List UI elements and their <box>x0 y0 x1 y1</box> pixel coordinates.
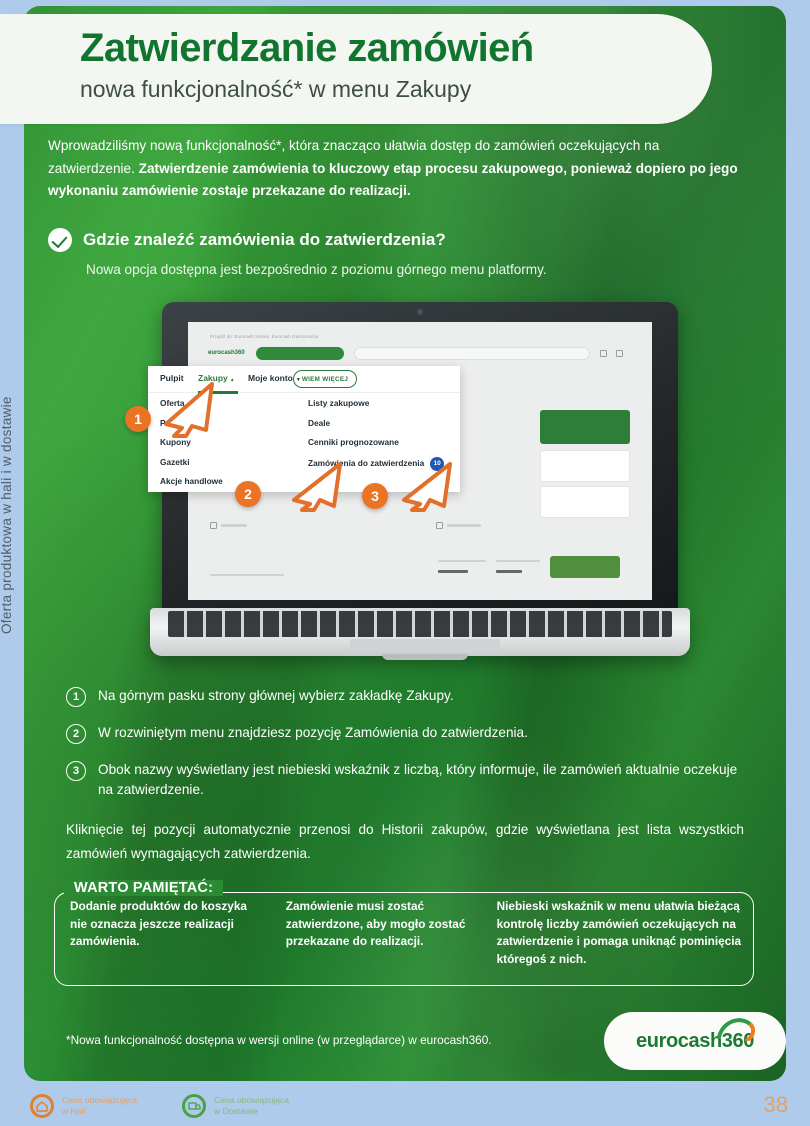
intro-paragraph: Wprowadziliśmy nową funkcjonalność*, któ… <box>48 135 748 203</box>
page-number: 38 <box>764 1092 788 1118</box>
closing-paragraph: Kliknięcie tej pozycji automatycznie prz… <box>66 818 744 866</box>
marker-2: 2 <box>235 481 261 507</box>
browser-footer-note <box>210 574 284 576</box>
browser-total-label-2 <box>496 560 540 562</box>
browser-total-value-1 <box>438 570 468 573</box>
menu-item-deale[interactable]: Deale <box>308 418 444 428</box>
step-3-text: Obok nazwy wyświetlany jest niebieski ws… <box>98 760 756 800</box>
link-icon[interactable] <box>600 350 607 357</box>
step-2: 2 W rozwiniętym menu znajdziesz pozycję … <box>66 723 756 744</box>
chevron-up-icon: ▲ <box>230 377 235 383</box>
tab-moje-konto-label: Moje konto <box>248 373 293 383</box>
bottom-bar: Cena obowiązująca w Hali Cena obowiązują… <box>0 1086 810 1126</box>
step-2-number: 2 <box>66 724 86 744</box>
eurocash360-logo: eurocash360 <box>604 1012 786 1070</box>
step-2-text: W rozwiniętym menu znajdziesz pozycję Za… <box>98 723 528 743</box>
legend-hall-line2: w Hali <box>62 1106 137 1117</box>
menu-item-cenniki[interactable]: Cenniki prognozowane <box>308 437 444 447</box>
legend-hall-line1: Cena obowiązująca <box>62 1095 137 1106</box>
browser-sidebar-import[interactable] <box>540 486 630 518</box>
page-subtitle: nowa funkcjonalność* w menu Zakupy <box>80 76 471 103</box>
step-1-number: 1 <box>66 687 86 707</box>
page-title: Zatwierdzanie zamówień <box>80 26 534 71</box>
browser-sidebar-rozpocznij[interactable] <box>540 410 630 444</box>
remember-column-1: Dodanie produktów do koszyka nie oznacza… <box>70 898 264 968</box>
steps-list: 1 Na górnym pasku strony głównej wybierz… <box>66 686 756 816</box>
intro-text-bold: Zatwierdzenie zamówienia to kluczowy eta… <box>48 161 738 199</box>
coupon-icon <box>210 522 217 529</box>
side-label: Oferta produktowa w hali i w dostawie <box>0 340 14 640</box>
header-pill: Zatwierdzanie zamówień nowa funkcjonalno… <box>0 14 712 124</box>
browser-breadcrumb: Przejdź do: Eurocash Serwis, Eurocash Ga… <box>210 334 318 339</box>
legend-delivery-line1: Cena obowiązująca <box>214 1095 289 1106</box>
laptop-notch <box>382 654 468 660</box>
step-1-text: Na górnym pasku strony głównej wybierz z… <box>98 686 454 706</box>
browser-footer-link-kupony[interactable] <box>221 524 247 527</box>
legend-item-delivery: Cena obowiązująca w Dostawie <box>182 1094 289 1118</box>
footnote: *Nowa funkcjonalność dostępna w wersji o… <box>66 1033 492 1047</box>
webcam-icon <box>417 309 423 315</box>
step-1: 1 Na górnym pasku strony głównej wybierz… <box>66 686 756 707</box>
logo-swoosh-icon <box>717 1015 757 1041</box>
remember-columns: Dodanie produktów do koszyka nie oznacza… <box>70 898 750 968</box>
cursor-arrow-1 <box>156 378 226 440</box>
question-row: Gdzie znaleźć zamówienia do zatwierdzeni… <box>48 228 446 252</box>
question-title: Gdzie znaleźć zamówienia do zatwierdzeni… <box>83 230 446 250</box>
step-3: 3 Obok nazwy wyświetlany jest niebieski … <box>66 760 756 800</box>
mail-icon[interactable] <box>616 350 623 357</box>
step-3-number: 3 <box>66 761 86 781</box>
hall-icon <box>30 1094 54 1118</box>
browser-cta-button[interactable] <box>256 347 344 360</box>
remember-column-3: Niebieski wskaźnik w menu ułatwia bieżąc… <box>497 898 750 968</box>
menu-item-akcje-handlowe[interactable]: Akcje handlowe <box>160 476 223 486</box>
check-circle-icon <box>48 228 72 252</box>
wiem-wiecej-button[interactable]: WIEM WIĘCEJ <box>293 370 357 388</box>
cursor-arrow-2 <box>286 458 350 514</box>
question-subtitle: Nowa opcja dostępna jest bezpośrednio z … <box>86 262 547 277</box>
remember-box-title: WARTO PAMIĘTAĆ: <box>64 880 223 896</box>
marker-1: 1 <box>125 406 151 432</box>
browser-sidebar-promocje[interactable] <box>540 450 630 482</box>
claim-icon <box>436 522 443 529</box>
menu-item-listy-zakupowe[interactable]: Listy zakupowe <box>308 398 444 408</box>
legend-item-hall: Cena obowiązująca w Hali <box>30 1094 137 1118</box>
legend-delivery-text: Cena obowiązująca w Dostawie <box>214 1095 289 1117</box>
browser-total-label-1 <box>438 560 486 562</box>
laptop-base <box>150 608 690 656</box>
browser-cart-summary[interactable] <box>550 556 620 578</box>
browser-total-value-2 <box>496 570 522 573</box>
browser-search-input[interactable] <box>354 347 590 360</box>
menu-item-gazetki[interactable]: Gazetki <box>160 457 223 467</box>
page-root: Oferta produktowa w hali i w dostawie Za… <box>0 0 810 1126</box>
truck-icon <box>182 1094 206 1118</box>
remember-column-2: Zamówienie musi zostać zatwierdzone, aby… <box>286 898 475 968</box>
browser-footer-link-reklamacje[interactable] <box>447 524 481 527</box>
marker-3: 3 <box>362 483 388 509</box>
legend-delivery-line2: w Dostawie <box>214 1106 289 1117</box>
logo-text: eurocash360 <box>636 1030 754 1053</box>
browser-logo: eurocash360 <box>208 350 245 356</box>
cursor-arrow-3 <box>396 458 460 514</box>
legend-hall-text: Cena obowiązująca w Hali <box>62 1095 137 1117</box>
